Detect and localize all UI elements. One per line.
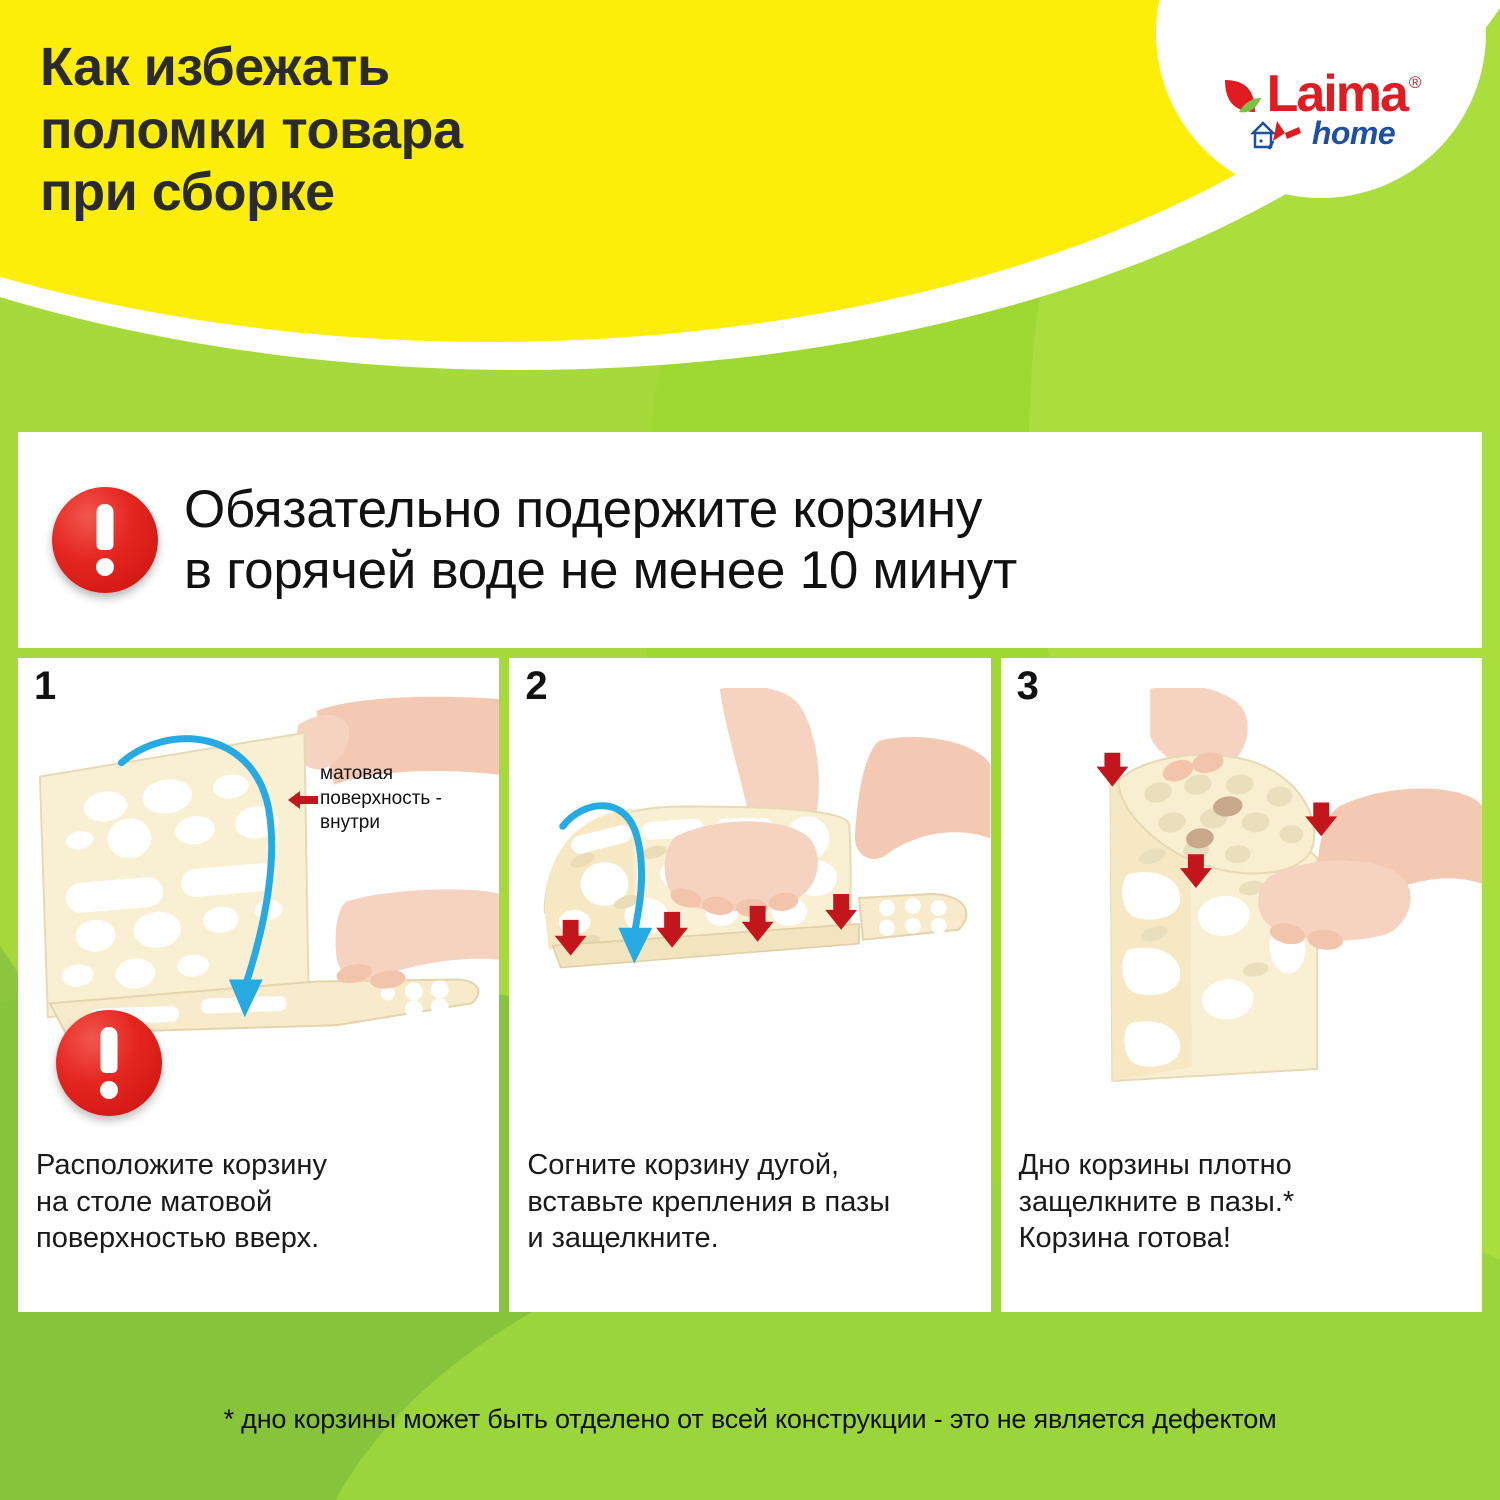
step-panel-1: 1 (18, 658, 499, 1312)
steps-row: 1 (18, 658, 1482, 1312)
matte-note-line-1: матовая (320, 762, 500, 787)
step-2-illustration (509, 688, 990, 1088)
page-title: Как избежать поломки товара при сборке (40, 36, 800, 224)
exclamation-circle-icon (56, 1010, 162, 1116)
matte-note-line-2: поверхность - (320, 787, 500, 812)
step-number-1: 1 (34, 666, 56, 706)
page-title-line-3: при сборке (40, 161, 800, 224)
step-1-caption: Расположите корзину на столе матовой пов… (36, 1147, 489, 1256)
page-title-line-2: поломки товара (40, 99, 800, 162)
step-1-caption-line-1: Расположите корзину (36, 1147, 489, 1183)
warning-line-2: в горячей воде не менее 10 минут (184, 540, 1057, 601)
logo-brand-text: Laima (1267, 72, 1407, 117)
step-panel-3: 3 (1001, 658, 1482, 1312)
exclamation-circle-icon (52, 487, 158, 593)
step-number-2: 2 (525, 666, 547, 706)
arrow-left-icon (288, 790, 318, 810)
step-2-caption: Согните корзину дугой, вставьте креплени… (527, 1147, 980, 1256)
logo-wordmark-row: Laima ® (1221, 72, 1422, 117)
step-panel-2: 2 (509, 658, 990, 1312)
step-3-caption-line-1: Дно корзины плотно (1019, 1147, 1472, 1183)
warning-banner: Обязательно подержите корзину в горячей … (18, 432, 1482, 648)
warning-banner-text: Обязательно подержите корзину в горячей … (184, 479, 1057, 602)
page-title-line-1: Как избежать (40, 36, 800, 99)
matte-surface-note: матовая поверхность - внутри (320, 762, 500, 836)
step-number-3: 3 (1017, 666, 1039, 706)
logo-sub-row: home (1247, 115, 1395, 152)
step-3-illustration (1001, 688, 1482, 1088)
logo-sub-brand-text: home (1312, 115, 1395, 152)
step-3-caption-line-3: Корзина готова! (1019, 1220, 1472, 1256)
step-2-caption-line-3: и защелкните. (527, 1220, 980, 1256)
warning-line-1: Обязательно подержите корзину (184, 479, 1057, 540)
step-1-caption-line-2: на столе матовой (36, 1184, 489, 1220)
step-2-caption-line-2: вставьте крепления в пазы (527, 1184, 980, 1220)
footnote: * дно корзины может быть отделено от все… (0, 1404, 1500, 1435)
registered-mark-icon: ® (1409, 74, 1422, 91)
step-3-caption-line-2: защелкните в пазы.* (1019, 1184, 1472, 1220)
step-3-caption: Дно корзины плотно защелкните в пазы.* К… (1019, 1147, 1472, 1256)
matte-note-line-3: внутри (320, 811, 500, 836)
step-2-caption-line-1: Согните корзину дугой, (527, 1147, 980, 1183)
step-1-caption-line-3: поверхностью вверх. (36, 1220, 489, 1256)
leaf-icon (1221, 74, 1265, 116)
broom-house-icon (1247, 117, 1307, 151)
